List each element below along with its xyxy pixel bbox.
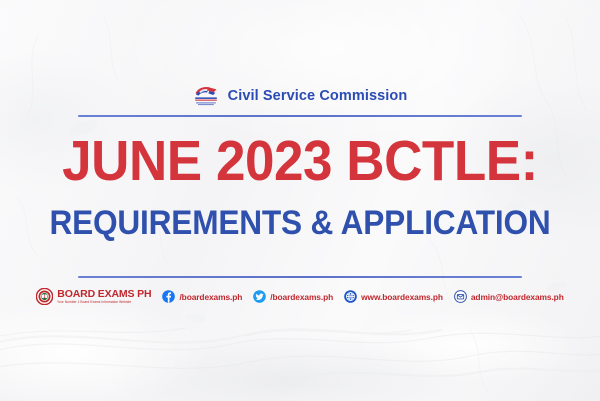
- email-address: admin@boardexams.ph: [471, 292, 564, 302]
- poster-content: Civil Service Commission JUNE 2023 BCTLE…: [0, 0, 600, 401]
- twitter-handle: /boardexams.ph: [270, 292, 333, 302]
- brand-tagline: Your Number 1 Board Exams Information We…: [57, 301, 153, 304]
- social-facebook[interactable]: /boardexams.ph: [162, 290, 242, 303]
- social-twitter[interactable]: /boardexams.ph: [253, 290, 333, 303]
- brand-text: BOARD EXAMS PH Your Number 1 Board Exams…: [57, 289, 151, 304]
- facebook-icon: [162, 290, 175, 303]
- website-url: www.boardexams.ph: [361, 292, 443, 302]
- header-row: Civil Service Commission: [0, 84, 600, 108]
- divider-bottom: [78, 276, 522, 278]
- footer-bar: BOARD EXAMS PH Your Number 1 Board Exams…: [0, 288, 600, 305]
- social-website[interactable]: www.boardexams.ph: [344, 290, 443, 303]
- globe-icon: [344, 290, 357, 303]
- poster-canvas: Civil Service Commission JUNE 2023 BCTLE…: [0, 0, 600, 401]
- brand-name: BOARD EXAMS PH: [57, 289, 151, 300]
- divider-top: [78, 115, 522, 117]
- facebook-handle: /boardexams.ph: [179, 292, 242, 302]
- social-email[interactable]: admin@boardexams.ph: [454, 290, 564, 303]
- email-icon: [454, 290, 467, 303]
- headline-primary: JUNE 2023 BCTLE:: [21, 133, 579, 190]
- brand-lockup: BOARD EXAMS PH Your Number 1 Board Exams…: [36, 288, 151, 305]
- headline-secondary: REQUIREMENTS & APPLICATION: [21, 206, 579, 240]
- board-exams-ph-seal-icon: [36, 288, 53, 305]
- csc-title: Civil Service Commission: [228, 88, 408, 104]
- csc-seal-icon: [193, 84, 219, 108]
- headline-block: JUNE 2023 BCTLE: REQUIREMENTS & APPLICAT…: [0, 133, 600, 240]
- twitter-icon: [253, 290, 266, 303]
